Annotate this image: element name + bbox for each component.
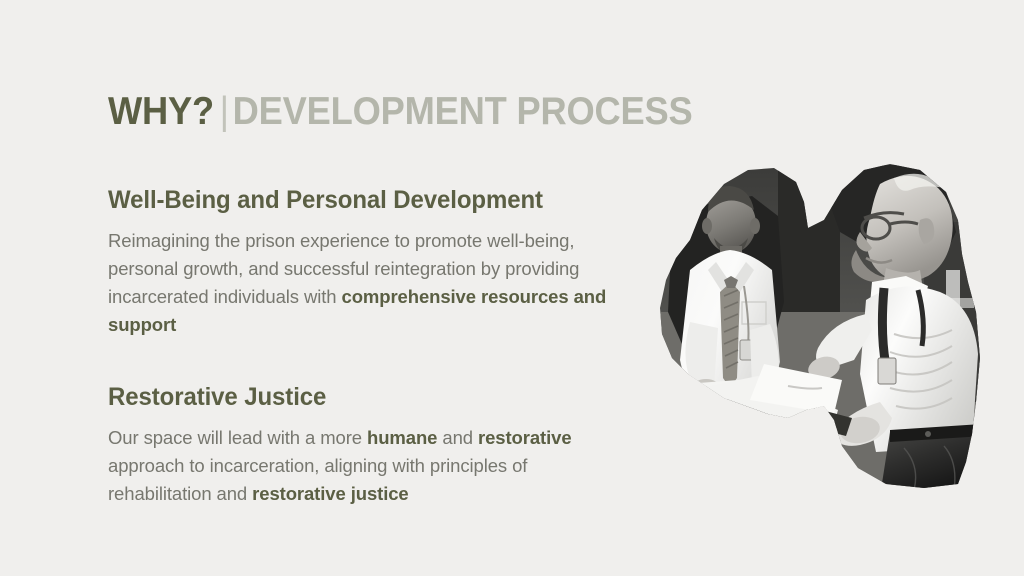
body-text-mid: and xyxy=(437,427,478,448)
body-emphasis-restorative-justice: restorative justice xyxy=(252,483,408,504)
body-emphasis-humane: humane xyxy=(367,427,437,448)
section-heading-well-being: Well-Being and Personal Development xyxy=(108,186,607,215)
section-heading-restorative-justice: Restorative Justice xyxy=(108,383,607,412)
title-primary: WHY? xyxy=(108,90,214,133)
section-body-restorative-justice: Our space will lead with a more humane a… xyxy=(108,424,613,508)
section-restorative-justice: Restorative Justice Our space will lead … xyxy=(108,383,628,508)
photo-two-men-conversation: Black and white cut-out photograph of tw… xyxy=(628,162,980,490)
title-divider: | xyxy=(214,90,233,133)
slide-canvas: WHY?|DEVELOPMENT PROCESS Well-Being and … xyxy=(0,0,1024,576)
page-title: WHY?|DEVELOPMENT PROCESS xyxy=(108,92,693,133)
photo-illustration xyxy=(628,162,980,490)
title-secondary: DEVELOPMENT PROCESS xyxy=(233,90,693,133)
section-well-being: Well-Being and Personal Development Reim… xyxy=(108,186,628,339)
body-emphasis-restorative: restorative xyxy=(478,427,572,448)
section-body-well-being: Reimagining the prison experience to pro… xyxy=(108,227,613,339)
content-column: Well-Being and Personal Development Reim… xyxy=(108,186,628,508)
body-text-lead: Our space will lead with a more xyxy=(108,427,367,448)
